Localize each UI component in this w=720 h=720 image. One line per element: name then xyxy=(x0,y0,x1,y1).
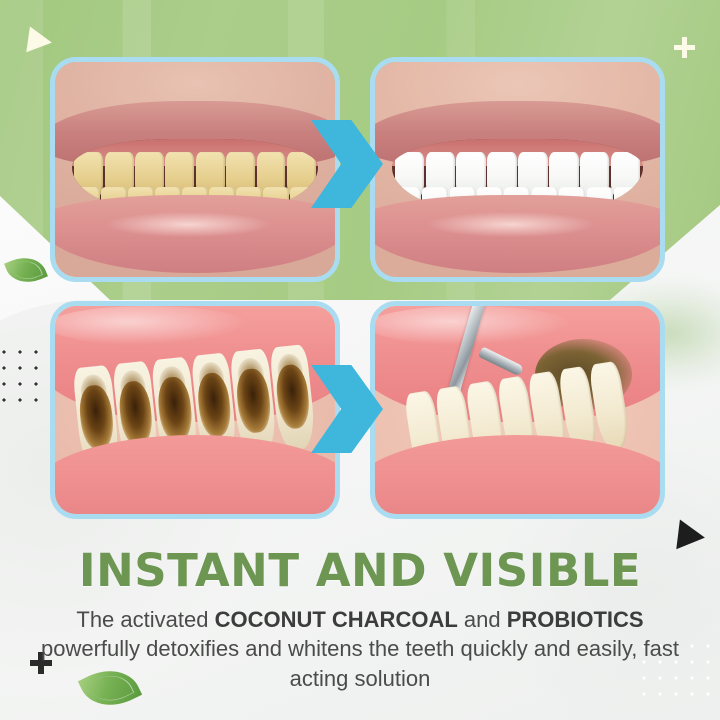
photo-before-yellow-teeth xyxy=(50,57,340,282)
copy-block: INSTANT AND VISIBLE The activated COCONU… xyxy=(0,548,720,693)
before-after-photo-grid xyxy=(50,57,668,522)
photo-after-scaled-teeth xyxy=(370,301,665,519)
body-bold-probiotics: PROBIOTICS xyxy=(507,607,644,632)
triangle-icon-top-left xyxy=(26,26,53,55)
dot-grid-left xyxy=(0,344,40,406)
headline: INSTANT AND VISIBLE xyxy=(0,548,720,595)
photo-after-white-teeth xyxy=(370,57,665,282)
body-part-3: powerfully detoxifies and whitens the te… xyxy=(41,636,679,690)
photo-before-tartar xyxy=(50,301,340,519)
body-part-2: and xyxy=(458,607,507,632)
plus-icon-top-right xyxy=(674,37,695,58)
product-ad-poster: INSTANT AND VISIBLE The activated COCONU… xyxy=(0,0,720,720)
body-copy: The activated COCONUT CHARCOAL and PROBI… xyxy=(0,605,720,693)
body-part-1: The activated xyxy=(76,607,214,632)
body-bold-coconut-charcoal: COCONUT CHARCOAL xyxy=(215,607,458,632)
